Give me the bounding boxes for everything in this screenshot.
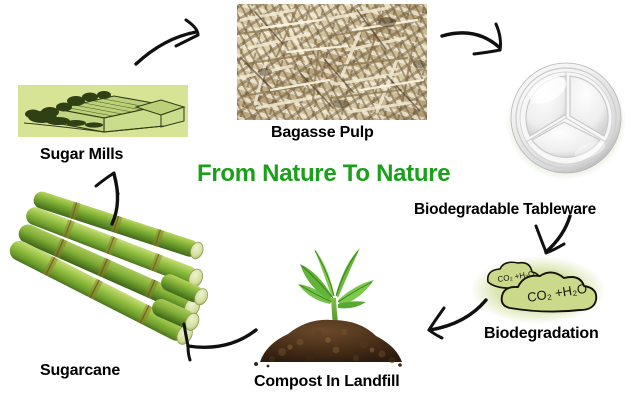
sugar-mills-image [18,85,188,137]
diagram-canvas: Sugar Mills [0,0,640,400]
arrow-biodegradation-to-compost-icon [412,296,492,348]
biodegradation-label: Biodegradation [484,325,599,343]
sugar-mills-label: Sugar Mills [40,146,123,164]
compost-in-landfill-image [252,222,404,370]
arrow-sugarcane-to-sugar-mills-icon [86,168,142,226]
arrow-bagasse-to-tableware-icon [438,18,528,78]
arrow-tableware-to-biodegradation-icon [524,214,588,268]
bagasse-pulp-label: Bagasse Pulp [271,124,374,142]
arrow-compost-to-sugarcane-icon [172,322,262,364]
arrow-sugar-mills-to-bagasse-icon [130,12,225,74]
sugarcane-label: Sugarcane [40,362,120,380]
bagasse-pulp-image [237,4,427,120]
page-title: From Nature To Nature [197,160,450,188]
compost-in-landfill-label: Compost In Landfill [254,373,400,391]
